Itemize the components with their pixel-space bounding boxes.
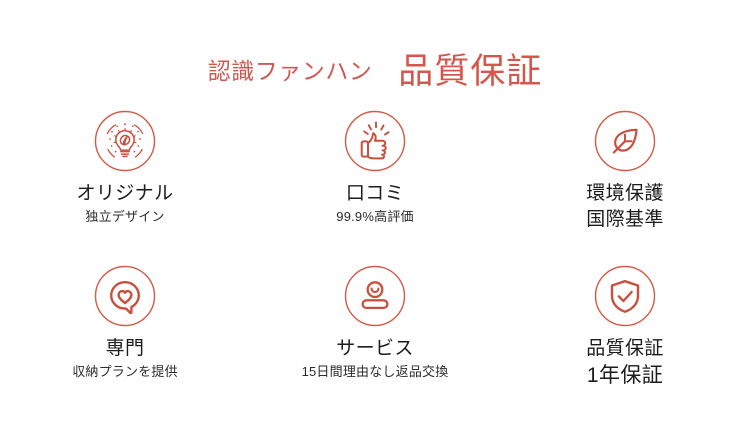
- feature-subtitle: 15日間理由なし返品交換: [302, 365, 449, 380]
- customer-service-person-icon: [342, 263, 408, 329]
- feature-title: 品質保証: [586, 338, 664, 359]
- feature-item-service: サービス 15日間理由なし返品交換: [250, 263, 500, 418]
- feature-item-specialist: 専門 収納プランを提供: [0, 263, 250, 418]
- speech-bubble-heart-icon: [92, 263, 158, 329]
- leaf-icon: [592, 108, 658, 174]
- banner-title: 品質保証: [398, 54, 542, 89]
- feature-item-eco: 環境保護 国際基準: [500, 108, 750, 263]
- feature-title: サービス: [336, 338, 414, 359]
- feature-item-original: オリジナル 独立デザイン: [0, 108, 250, 263]
- feature-subtitle: 1年保証: [587, 364, 663, 388]
- thumbs-up-icon: [342, 108, 408, 174]
- feature-subtitle: 独立デザイン: [85, 210, 164, 225]
- feature-title: オリジナル: [76, 183, 173, 204]
- feature-subtitle: 国際基準: [586, 209, 664, 231]
- feature-title: 環境保護: [586, 183, 664, 204]
- quality-guarantee-banner: 認識ファンハン 品質保証: [0, 0, 750, 440]
- feature-title: 口コミ: [346, 183, 404, 204]
- feature-subtitle: 収納プランを提供: [72, 365, 178, 380]
- banner-subtitle: 認識ファンハン: [208, 60, 373, 83]
- feature-title: 専門: [106, 338, 145, 359]
- banner-header: 認識ファンハン 品質保証: [0, 40, 750, 102]
- feature-item-guarantee: 品質保証 1年保証: [500, 263, 750, 418]
- feature-grid: オリジナル 独立デザイン 口コミ 99.9%高評価: [0, 108, 750, 418]
- shield-check-icon: [592, 263, 658, 329]
- feature-item-reviews: 口コミ 99.9%高評価: [250, 108, 500, 263]
- feature-subtitle: 99.9%高評価: [336, 210, 413, 225]
- lightbulb-leaf-icon: [92, 108, 158, 174]
